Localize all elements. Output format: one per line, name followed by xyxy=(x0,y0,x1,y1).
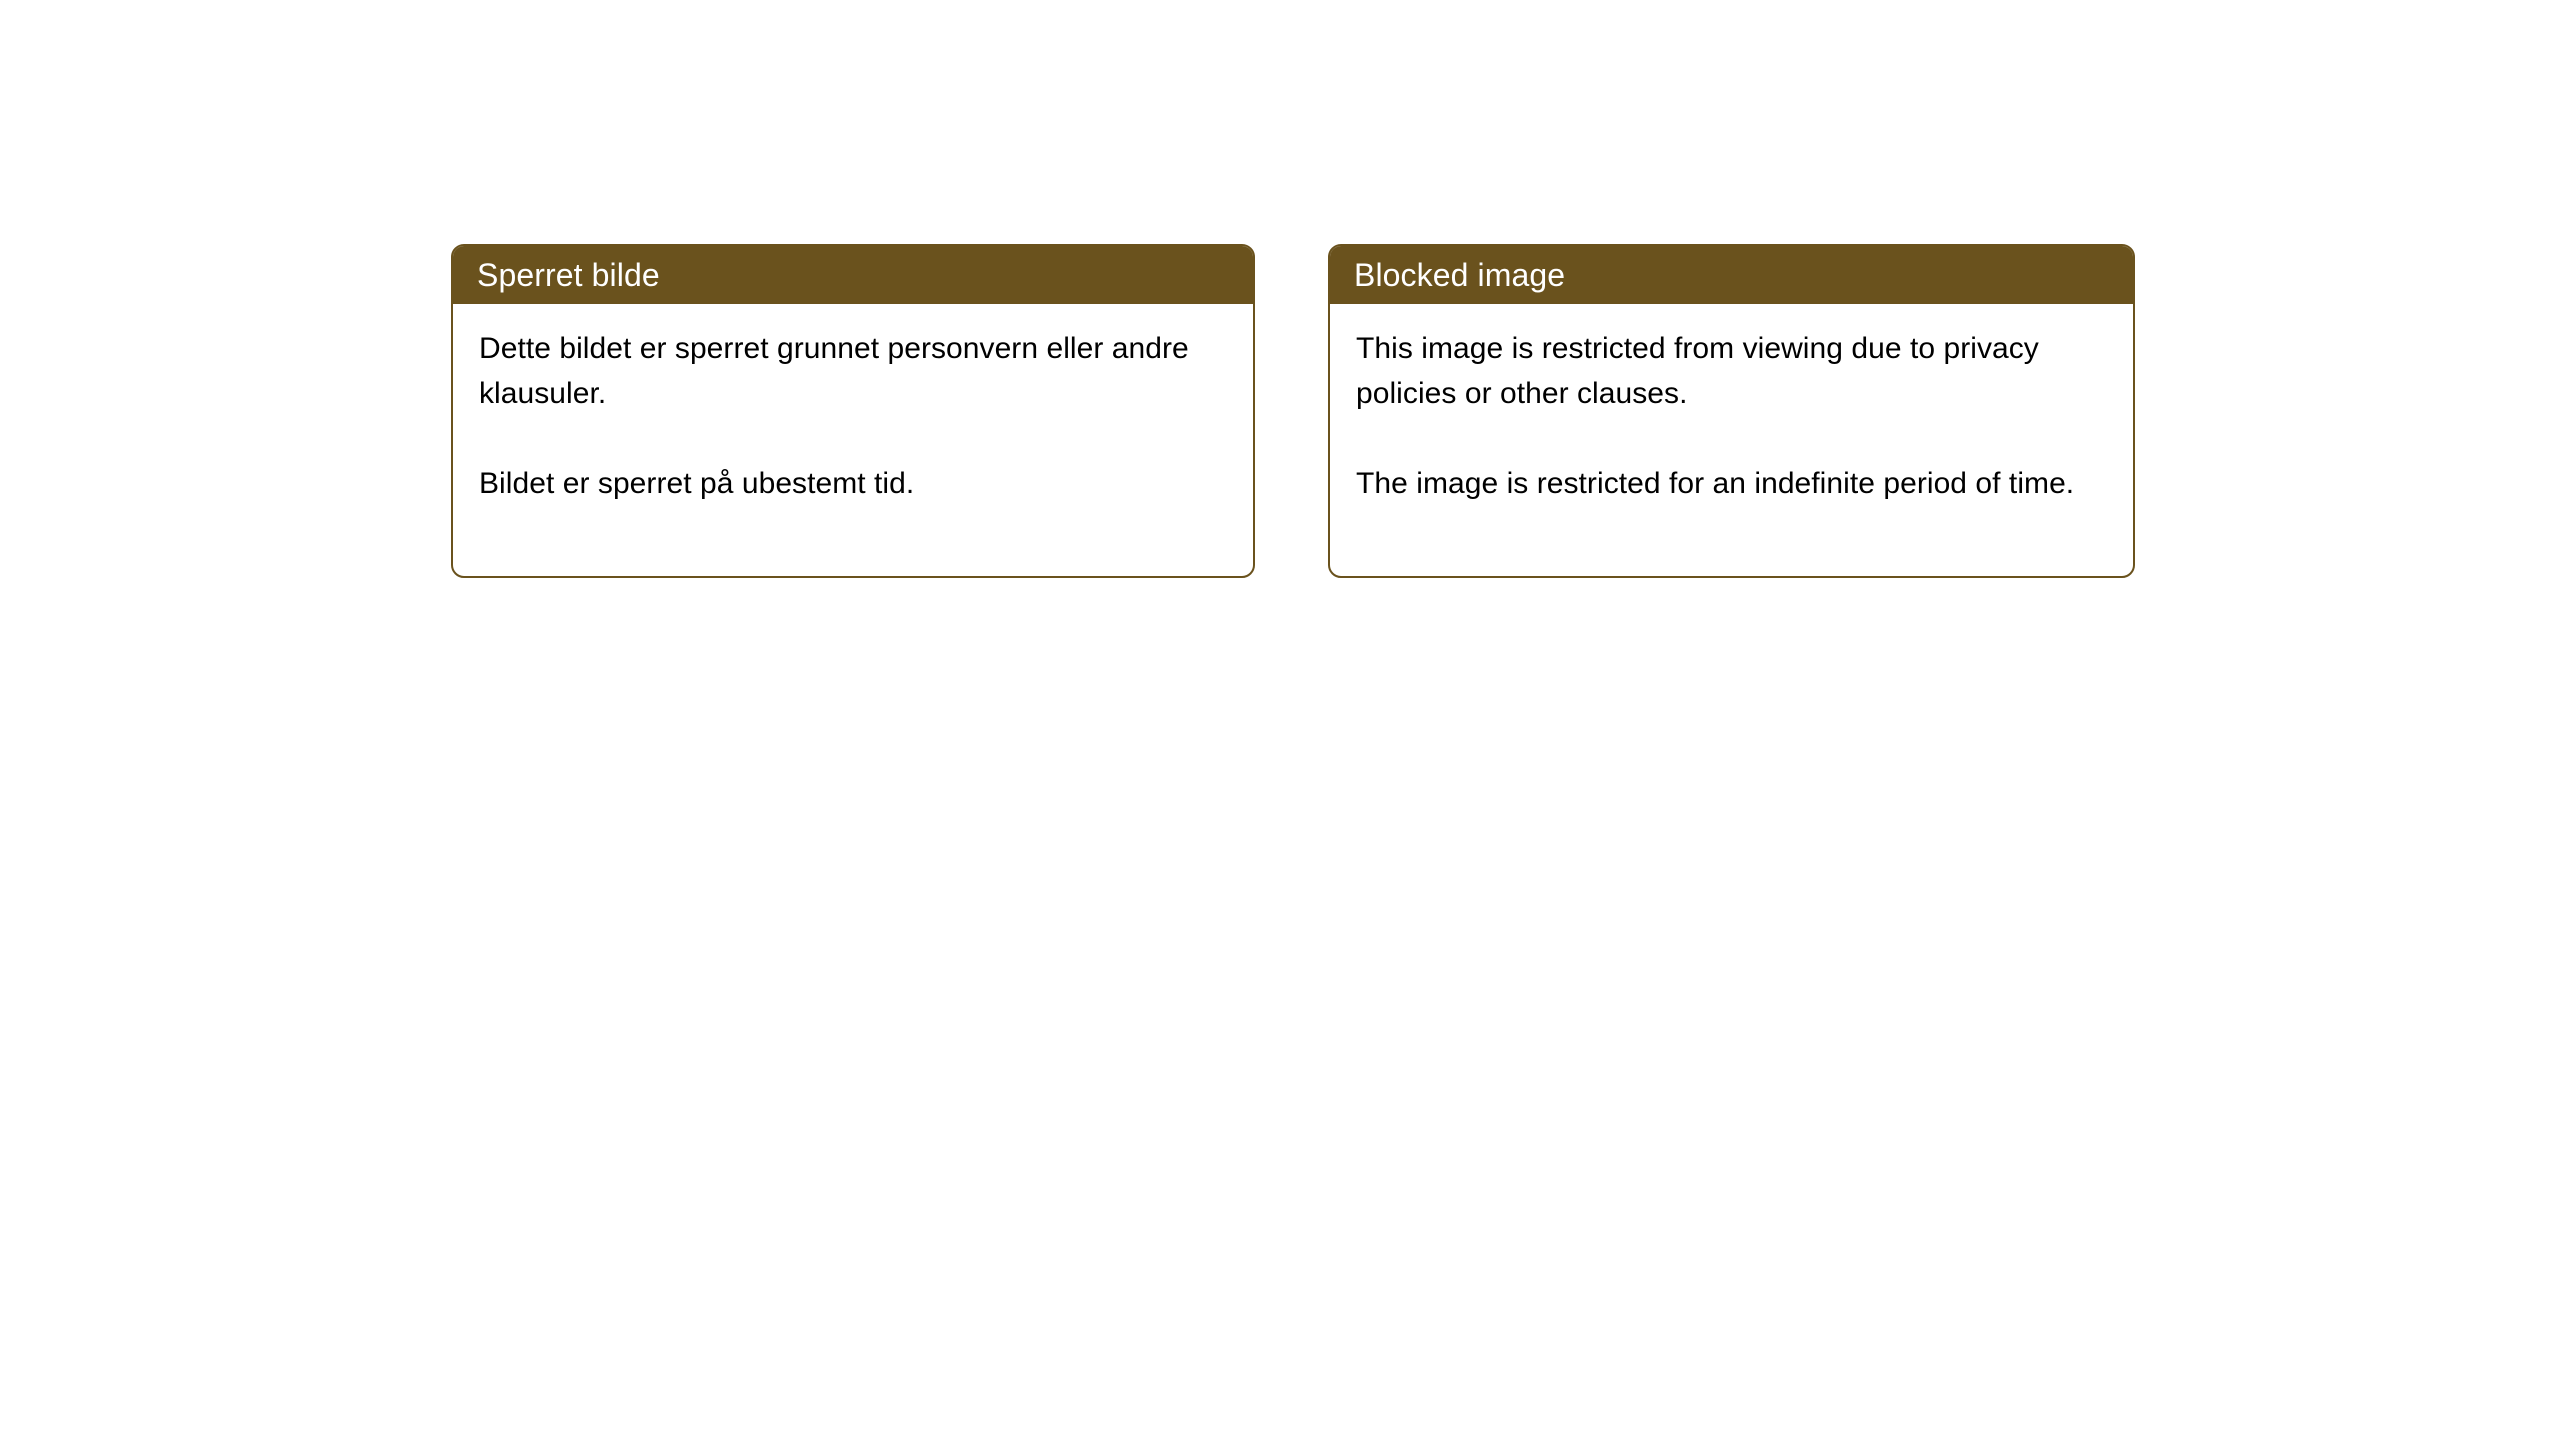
card-title-norwegian: Sperret bilde xyxy=(477,259,660,291)
card-header-norwegian: Sperret bilde xyxy=(453,246,1253,304)
card-paragraph-norwegian-2: Bildet er sperret på ubestemt tid. xyxy=(479,461,1227,506)
card-header-english: Blocked image xyxy=(1330,246,2133,304)
paragraph-spacer-english xyxy=(1356,416,2107,461)
card-paragraph-english-2: The image is restricted for an indefinit… xyxy=(1356,461,2107,506)
card-paragraph-norwegian-1: Dette bildet er sperret grunnet personve… xyxy=(479,326,1227,416)
card-body-norwegian: Dette bildet er sperret grunnet personve… xyxy=(453,304,1253,506)
card-title-english: Blocked image xyxy=(1354,259,1565,291)
card-body-english: This image is restricted from viewing du… xyxy=(1330,304,2133,506)
blocked-image-card-norwegian: Sperret bilde Dette bildet er sperret gr… xyxy=(451,244,1255,578)
blocked-image-card-english: Blocked image This image is restricted f… xyxy=(1328,244,2135,578)
paragraph-spacer-norwegian xyxy=(479,416,1227,461)
page-canvas: Sperret bilde Dette bildet er sperret gr… xyxy=(0,0,2560,1440)
card-paragraph-english-1: This image is restricted from viewing du… xyxy=(1356,326,2107,416)
